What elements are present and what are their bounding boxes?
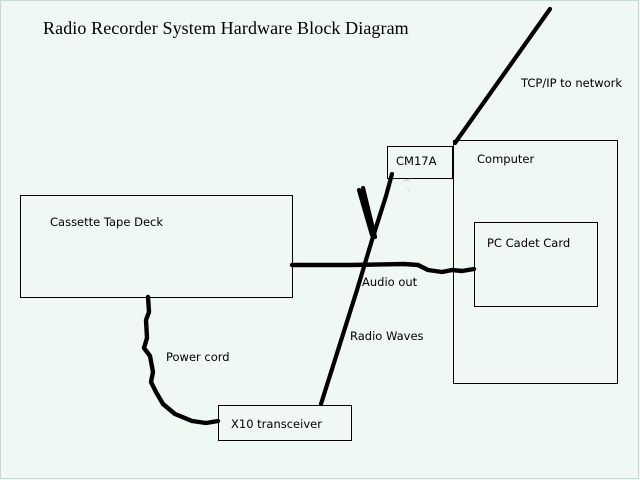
cassette-tape-deck-box[interactable] [21,196,293,298]
power-cord-label: Power cord [166,350,230,364]
audio-out-line [292,264,474,272]
cm17a-stub-line [404,179,410,181]
computer-box[interactable] [454,141,618,384]
cm17a-label: CM17A [396,154,436,168]
tcpip-network-label: TCP/IP to network [521,76,622,90]
page-title: Radio Recorder System Hardware Block Dia… [43,18,409,39]
pc-cadet-card-label: PC Cadet Card [487,236,570,250]
audio-out-label: Audio out [362,275,417,289]
radio-waves-label: Radio Waves [350,329,424,343]
computer-label: Computer [477,152,534,166]
x10-transceiver-label: X10 transceiver [231,417,322,431]
cm17a-connector-line [407,188,410,191]
cassette-tape-deck-label: Cassette Tape Deck [50,215,163,229]
radio-waves-line [321,174,392,404]
diagram-canvas: Radio Recorder System Hardware Block Dia… [0,0,640,480]
radio-waves-zigzag [359,188,375,237]
